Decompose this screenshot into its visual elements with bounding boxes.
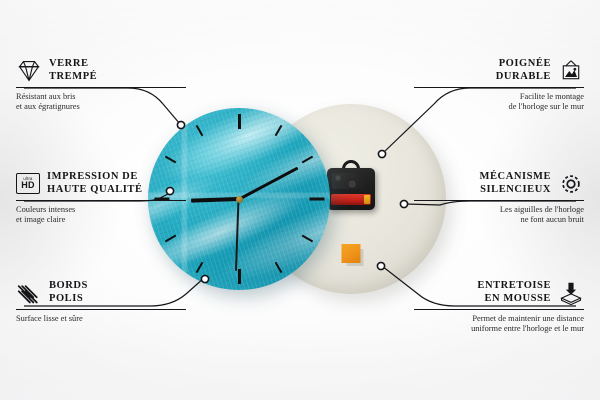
- polished-edges-icon: [16, 281, 42, 305]
- callout-description: Couleurs intenses et image claire: [16, 205, 186, 226]
- callout-title: MÉCANISME SILENCIEUX: [480, 171, 551, 196]
- title-line-2: DURABLE: [496, 71, 551, 82]
- callout-header: POIGNÉE DURABLE: [414, 58, 584, 83]
- desc-line-1: Facilite le montage: [520, 92, 584, 101]
- battery: [331, 194, 371, 205]
- title-line-2: HAUTE QUALITÉ: [47, 184, 143, 195]
- callout-bords-polis: BORDS POLIS Surface lisse et sûre: [16, 280, 186, 324]
- foam-spacer-square: [342, 244, 361, 263]
- product-image-group: [148, 104, 448, 296]
- callout-header: ultra HD IMPRESSION DE HAUTE QUALITÉ: [16, 171, 186, 196]
- callout-description: Les aiguilles de l'horloge ne font aucun…: [414, 205, 584, 226]
- callout-verre-trempe: VERRE TREMPÉ Résistant aux bris et aux é…: [16, 58, 186, 113]
- divider: [414, 309, 584, 310]
- hanging-frame-icon: [558, 59, 584, 83]
- divider: [16, 87, 186, 88]
- title-line-1: VERRE: [49, 58, 89, 69]
- ultra-hd-big-label: HD: [21, 181, 34, 190]
- callout-description: Surface lisse et sûre: [16, 314, 186, 324]
- title-line-1: ENTRETOISE: [477, 280, 551, 291]
- callout-header: VERRE TREMPÉ: [16, 58, 186, 83]
- desc-line-1: Résistant aux bris: [16, 92, 76, 101]
- title-line-1: BORDS: [49, 280, 88, 291]
- callout-entretoise-en-mousse: ENTRETOISE EN MOUSSE Permet de maintenir…: [414, 280, 584, 335]
- infographic-canvas: VERRE TREMPÉ Résistant aux bris et aux é…: [0, 0, 600, 400]
- desc-line-1: Les aiguilles de l'horloge: [500, 205, 584, 214]
- hands-center-cap: [236, 196, 243, 203]
- divider: [16, 309, 186, 310]
- callout-description: Permet de maintenir une distance uniform…: [414, 314, 584, 335]
- ultra-hd-icon: ultra HD: [16, 173, 40, 194]
- title-line-1: POIGNÉE: [499, 58, 551, 69]
- callout-mecanisme-silencieux: MÉCANISME SILENCIEUX Les aiguilles de l'…: [414, 171, 584, 226]
- callout-header: BORDS POLIS: [16, 280, 186, 305]
- desc-line-2: uniforme entre l'horloge et le mur: [471, 324, 584, 333]
- divider: [414, 200, 584, 201]
- title-line-1: IMPRESSION DE: [47, 171, 138, 182]
- callout-header: ENTRETOISE EN MOUSSE: [414, 280, 584, 305]
- title-line-2: EN MOUSSE: [484, 293, 551, 304]
- desc-line-2: et aux égratignures: [16, 102, 80, 111]
- title-line-2: POLIS: [49, 293, 83, 304]
- divider: [414, 87, 584, 88]
- desc-line-1: Couleurs intenses: [16, 205, 75, 214]
- callout-title: IMPRESSION DE HAUTE QUALITÉ: [47, 171, 143, 196]
- title-line-2: TREMPÉ: [49, 71, 97, 82]
- clock-mechanism: [327, 168, 375, 210]
- callout-title: BORDS POLIS: [49, 280, 88, 305]
- callout-title: VERRE TREMPÉ: [49, 58, 97, 83]
- callout-impression-haute-qualite: ultra HD IMPRESSION DE HAUTE QUALITÉ Cou…: [16, 171, 186, 226]
- callout-title: ENTRETOISE EN MOUSSE: [477, 280, 551, 305]
- desc-line-2: ne font aucun bruit: [521, 215, 585, 224]
- desc-line-1: Surface lisse et sûre: [16, 314, 83, 323]
- desc-line-2: de l'horloge sur le mur: [509, 102, 584, 111]
- mechanism-detail: [332, 173, 366, 189]
- desc-line-2: et image claire: [16, 215, 65, 224]
- callout-header: MÉCANISME SILENCIEUX: [414, 171, 584, 196]
- desc-line-1: Permet de maintenir une distance: [472, 314, 584, 323]
- foam-spacer-icon: [558, 281, 584, 305]
- callout-title: POIGNÉE DURABLE: [496, 58, 551, 83]
- divider: [16, 200, 186, 201]
- diamond-icon: [16, 59, 42, 83]
- title-line-2: SILENCIEUX: [480, 184, 551, 195]
- gear-icon: [558, 172, 584, 196]
- callout-description: Facilite le montage de l'horloge sur le …: [414, 92, 584, 113]
- callout-description: Résistant aux bris et aux égratignures: [16, 92, 186, 113]
- callout-poignee-durable: POIGNÉE DURABLE Facilite le montage de l…: [414, 58, 584, 113]
- title-line-1: MÉCANISME: [480, 171, 551, 182]
